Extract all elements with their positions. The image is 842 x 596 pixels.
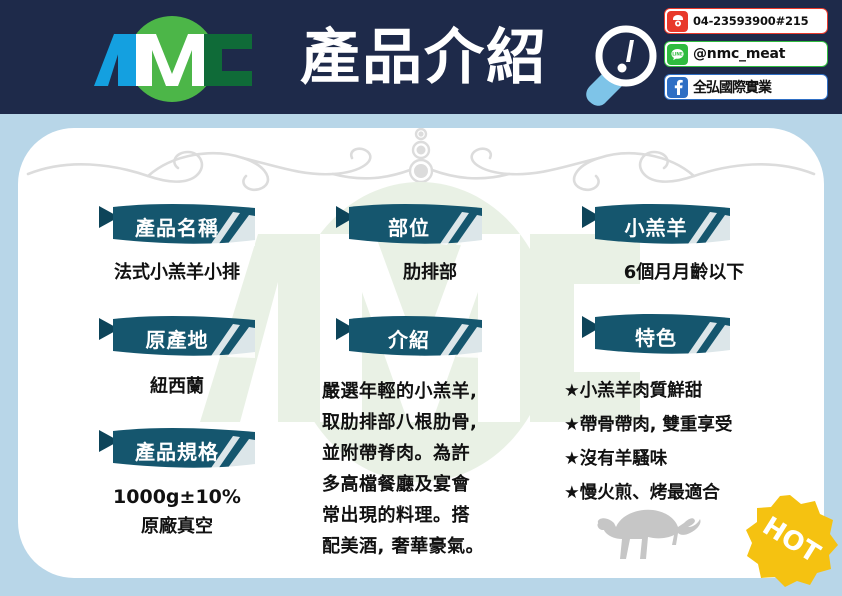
ribbon-cut: 部位 [336, 204, 482, 248]
facebook-icon [667, 77, 688, 98]
contact-badges: 04-23593900#215 LINE @nmc_meat 全弘國際實 [664, 8, 828, 107]
description-line: 並附帶脊肉。為許 [308, 438, 534, 469]
description-block: 嚴選年輕的小羔羊, 取肋排部八根肋骨, 並附帶脊肉。為許 多高檔餐廳及宴會 常出… [308, 376, 534, 562]
column-middle: 部位 肋排部 介紹 嚴選年輕的小羔羊, 取肋排部八根肋骨, 並附帶脊肉。為許 多… [308, 128, 534, 562]
magnifier-exclamation-icon [568, 22, 664, 108]
ribbon-label: 特色 [582, 314, 730, 358]
hot-starburst-badge[interactable]: HOT [742, 492, 838, 588]
ribbon-intro: 介紹 [336, 316, 482, 360]
ribbon-label: 產品規格 [99, 428, 255, 472]
nmc-logo [88, 14, 258, 104]
description-line: 配美酒, 奢華豪氣。 [308, 531, 534, 562]
description-line: 常出現的料理。搭 [308, 500, 534, 531]
description-line: 嚴選年輕的小羔羊, [308, 376, 534, 407]
phone-icon [667, 11, 688, 32]
line-badge[interactable]: LINE @nmc_meat [664, 41, 828, 67]
description-line: 多高檔餐廳及宴會 [308, 469, 534, 500]
value-cut: 肋排部 [326, 258, 534, 288]
ribbon-features: 特色 [582, 314, 730, 358]
poster-canvas: 產品名稱 法式小羔羊小排 原產地 紐西蘭 [0, 0, 842, 596]
line-id: @nmc_meat [693, 46, 785, 62]
value-lamb-age: 6個月月齡以下 [570, 258, 798, 288]
ribbon-origin: 原產地 [99, 316, 255, 360]
ribbon-lamb-age: 小羔羊 [582, 204, 730, 248]
features-list: ★小羔羊肉質鮮甜 ★帶骨帶肉, 雙重享受 ★沒有羊騷味 ★慢火煎、烤最適合 [558, 374, 798, 510]
page-header: 產品介紹 04-23593900#215 [0, 0, 842, 114]
page-title: 產品介紹 [288, 14, 560, 102]
facebook-badge[interactable]: 全弘國際實業 [664, 74, 828, 100]
ribbon-label: 部位 [336, 204, 482, 248]
value-spec-weight: 1000g±10% [62, 482, 292, 512]
ribbon-label: 原產地 [99, 316, 255, 360]
column-left: 產品名稱 法式小羔羊小排 原產地 紐西蘭 [62, 128, 292, 542]
feature-item: ★帶骨帶肉, 雙重享受 [558, 408, 798, 442]
ribbon-spec: 產品規格 [99, 428, 255, 472]
feature-item: ★小羔羊肉質鮮甜 [558, 374, 798, 408]
line-icon: LINE [667, 44, 688, 65]
ribbon-label: 產品名稱 [99, 204, 255, 248]
description-line: 取肋排部八根肋骨, [308, 407, 534, 438]
value-product-name: 法式小羔羊小排 [62, 258, 292, 288]
facebook-page-name: 全弘國際實業 [693, 77, 771, 97]
svg-text:LINE: LINE [672, 51, 683, 56]
ribbon-label: 小羔羊 [582, 204, 730, 248]
phone-number: 04-23593900#215 [693, 14, 808, 28]
phone-badge[interactable]: 04-23593900#215 [664, 8, 828, 34]
ribbon-label: 介紹 [336, 316, 482, 360]
column-right: 小羔羊 6個月月齡以下 特色 ★小羔羊肉質鮮甜 ★帶骨帶肉, 雙重享受 ★沒有羊… [558, 128, 798, 510]
feature-item: ★沒有羊騷味 [558, 442, 798, 476]
value-origin: 紐西蘭 [62, 372, 292, 402]
columns-wrapper: 產品名稱 法式小羔羊小排 原產地 紐西蘭 [18, 128, 824, 578]
value-spec-packing: 原廠真空 [62, 512, 292, 542]
ribbon-product-name: 產品名稱 [99, 204, 255, 248]
